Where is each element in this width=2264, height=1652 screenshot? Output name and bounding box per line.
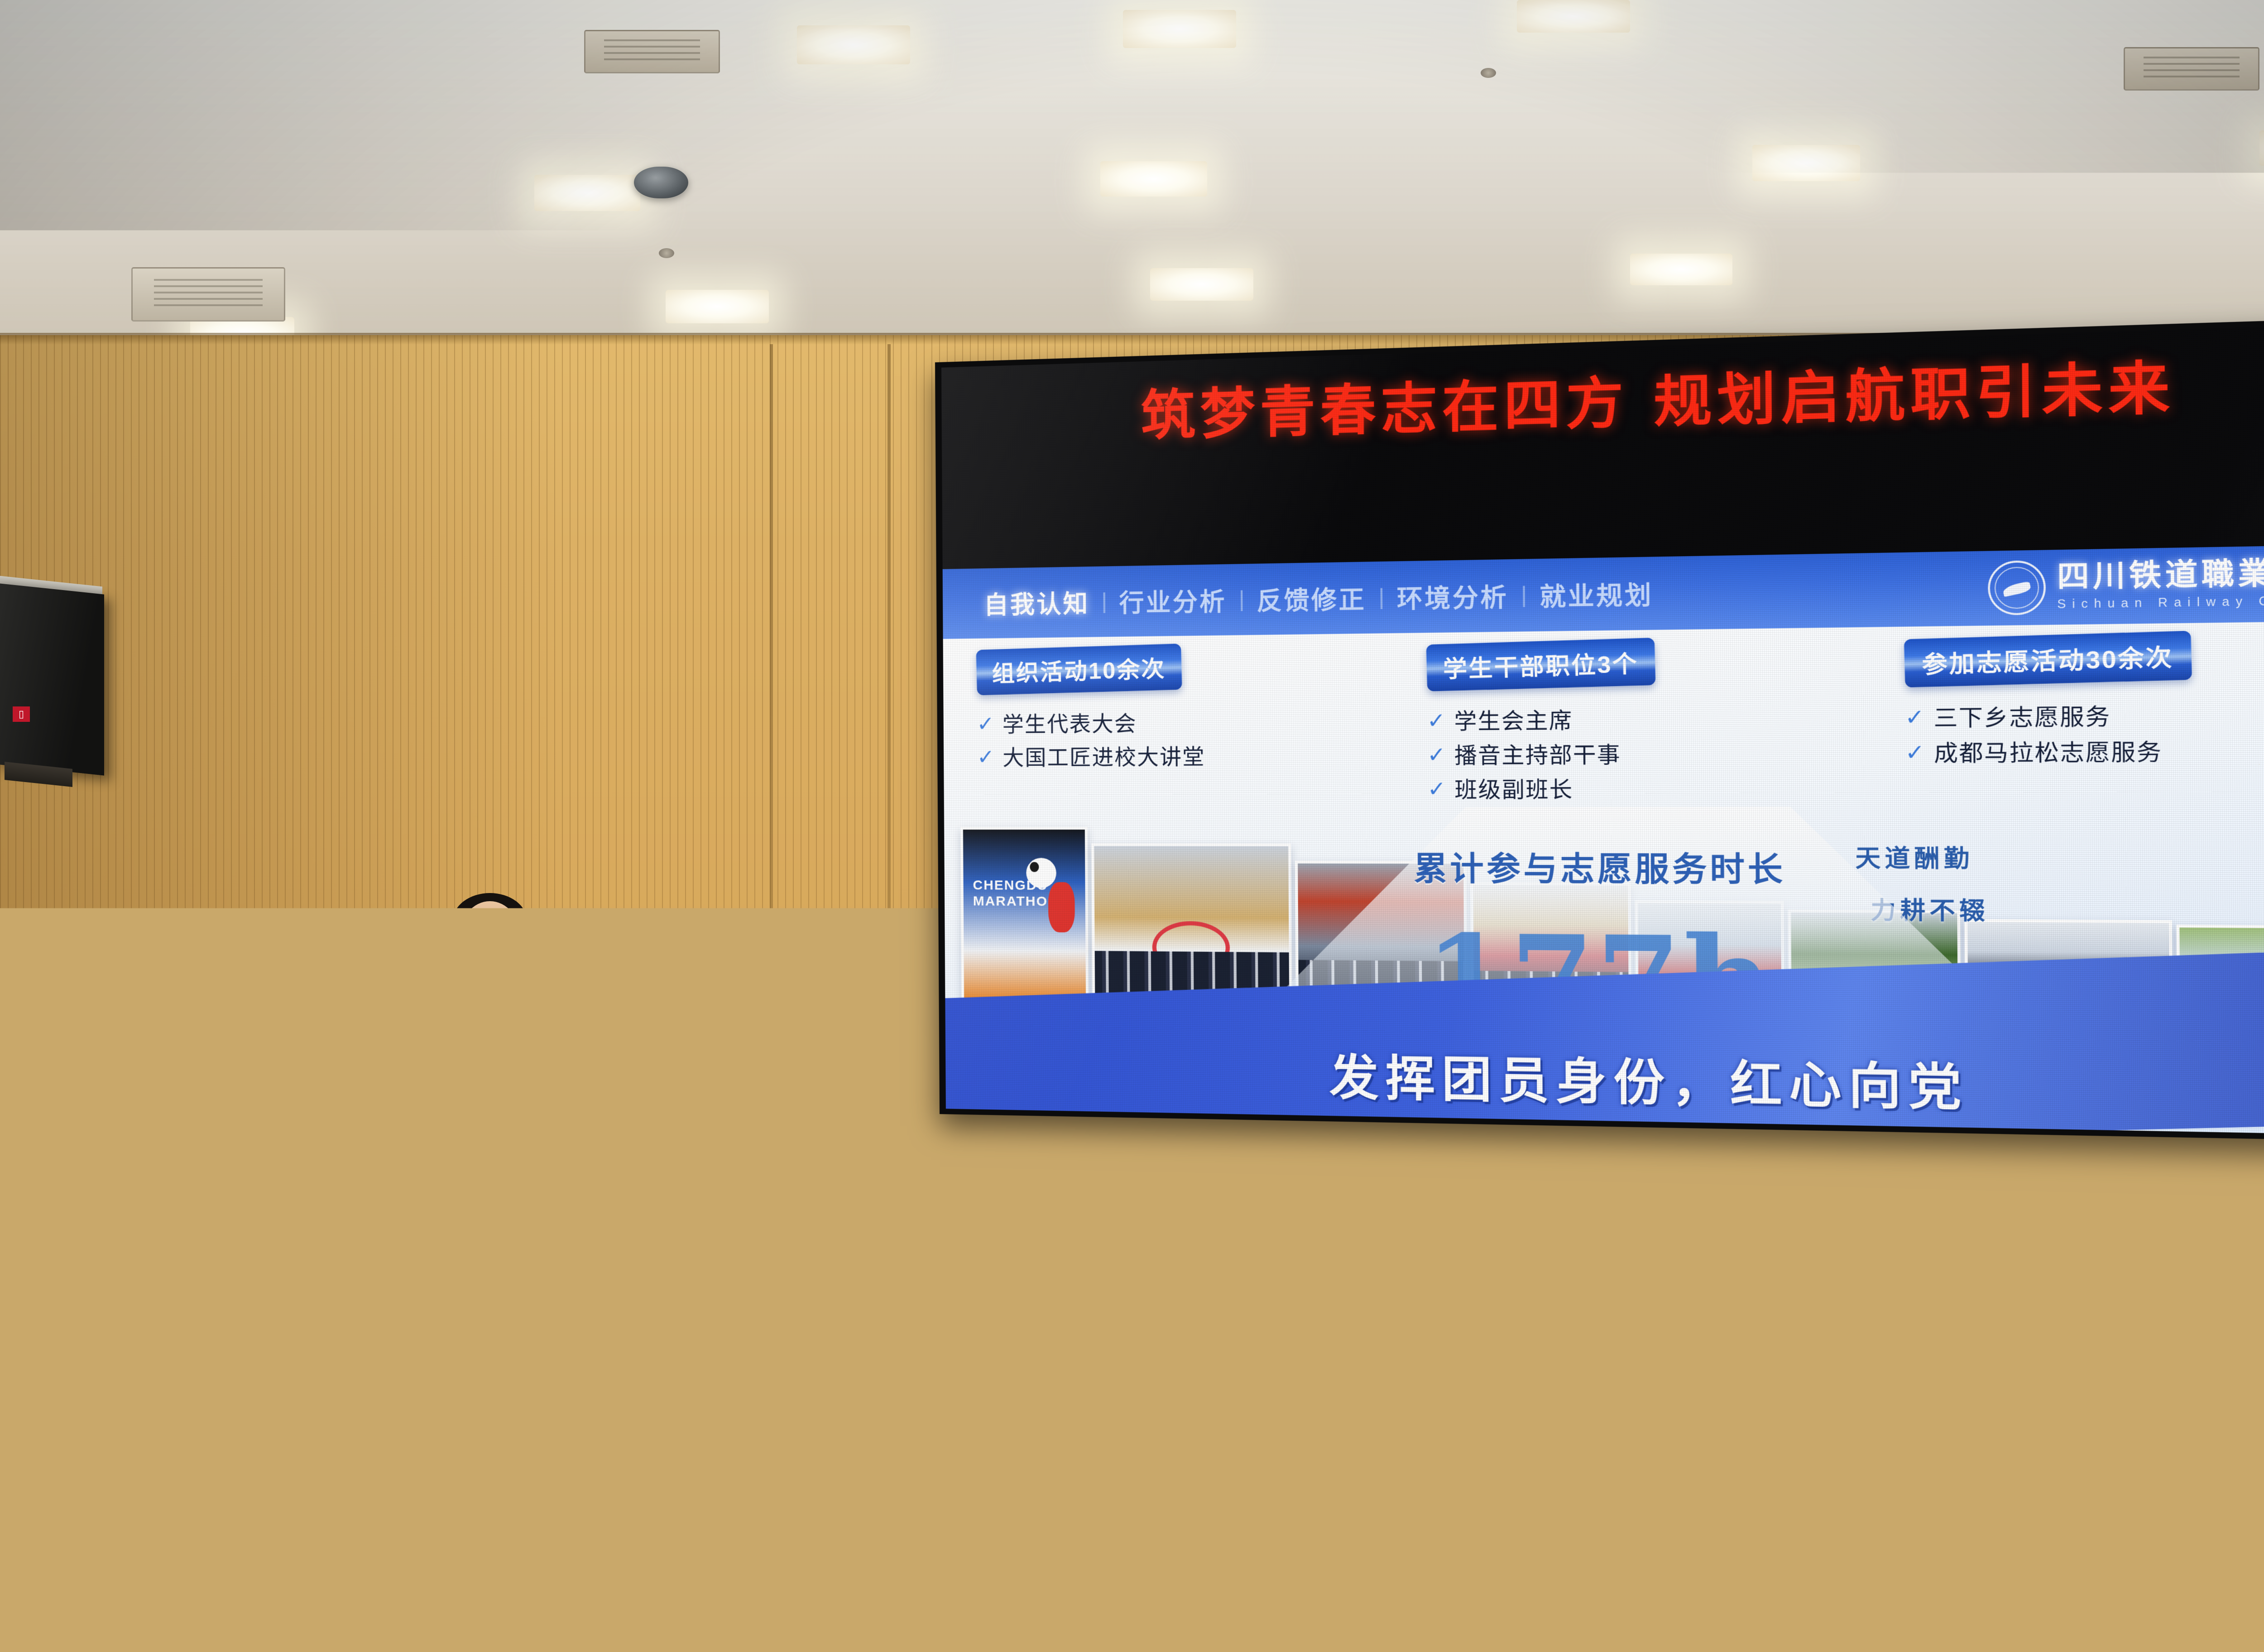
ac-vent [131, 267, 285, 322]
audience-head [860, 1331, 938, 1418]
ceiling-light-panel [2259, 130, 2264, 166]
sprinkler-head [659, 248, 674, 258]
ac-vent [2124, 47, 2259, 91]
check-icon: ✓ [1427, 744, 1446, 766]
audience-head [2092, 1331, 2172, 1420]
sprinkler-head [1481, 68, 1496, 78]
pill-positions: 学生干部职位3个 [1426, 638, 1656, 692]
bullet-list-positions: ✓ 学生会主席 ✓ 播音主持部干事 ✓ 班级副班长 [1427, 706, 1860, 802]
led-display-wall: 筑梦青春志在四方 规划启航职引未来 自我认知 | 行业分析 | 反馈修正 | 环… [935, 317, 2264, 1142]
wall-speaker [0, 583, 104, 775]
water-bottle [358, 1301, 373, 1345]
nav-separator: | [1101, 589, 1107, 614]
audience-head [1902, 1417, 1998, 1527]
judge-laptop [924, 1286, 1032, 1368]
check-icon: ✓ [1905, 741, 1925, 764]
list-item: ✓ 班级副班长 [1427, 777, 1860, 801]
audience-head [18, 1408, 109, 1513]
mascot-flag [1048, 882, 1075, 932]
list-item: ✓ 大国工匠进校大讲堂 [977, 744, 1385, 769]
check-icon: ✓ [1427, 778, 1446, 800]
speaker-brand-badge: ▯ [13, 706, 30, 722]
audience-head [1703, 1340, 1782, 1429]
audience-head [797, 1535, 914, 1652]
pill-activities: 组织活动10余次 [976, 644, 1182, 695]
ceiling-light-panel [1100, 161, 1207, 197]
list-item-label: 三下乡志愿服务 [1933, 704, 2111, 730]
audience-head [1186, 1327, 1263, 1413]
presenter-cuff-stripes-left [431, 1107, 467, 1136]
bullet-list-activities: ✓ 学生代表大会 ✓ 大国工匠进校大讲堂 [977, 710, 1384, 769]
list-item-label: 班级副班长 [1454, 778, 1573, 801]
slide-title-band: 筑梦青春志在四方 规划启航职引未来 [941, 322, 2264, 579]
panda-mascot-icon [1026, 858, 1056, 888]
nav-separator: | [1521, 582, 1527, 608]
pill-volunteering: 参加志愿活动30余次 [1904, 630, 2192, 687]
audience-head [480, 1413, 573, 1520]
audience-head [2137, 1426, 2234, 1537]
audience-head [1195, 1431, 1290, 1540]
list-item: ✓ 三下乡志愿服务 [1905, 702, 2264, 730]
panda-eye-icon [1030, 862, 1039, 872]
audience-chair [136, 1517, 299, 1652]
audience-chair [317, 1372, 453, 1460]
slide-title: 筑梦青春志在四方 规划启航职引未来 [1011, 336, 2264, 454]
nav-separator: | [1378, 585, 1384, 610]
college-seal-icon [1988, 560, 2046, 615]
nav-item-career-planning[interactable]: 就业规划 [1527, 574, 1666, 614]
ceiling-light-panel [666, 290, 769, 323]
achievement-column-activities: 组织活动10余次 ✓ 学生代表大会 ✓ 大国工匠进校大讲堂 [976, 643, 1384, 813]
audience-head [54, 1300, 127, 1381]
audience-head [1829, 1540, 1948, 1652]
tripod-head [578, 1223, 633, 1236]
uniform-button [479, 1103, 490, 1114]
audience-head [1426, 1422, 1521, 1531]
list-item: ✓ 学生会主席 [1427, 706, 1859, 733]
audience-head [1666, 1431, 1762, 1541]
nav-item-industry-analysis[interactable]: 行业分析 [1107, 581, 1239, 620]
check-icon: ✓ [977, 746, 995, 767]
college-name-cn: 四川铁道職業學院 [2057, 558, 2264, 593]
audience-head [1345, 1340, 1423, 1427]
audience-head [534, 1517, 650, 1652]
audience-head [2092, 1531, 2211, 1652]
check-icon: ✓ [977, 713, 994, 734]
check-icon: ✓ [1427, 710, 1445, 731]
ceiling-light-panel [1517, 0, 1630, 33]
water-bottle [1775, 1317, 1790, 1360]
nav-item-feedback-revision[interactable]: 反馈修正 [1244, 579, 1378, 618]
laptop-screen [924, 1286, 1032, 1359]
list-item: ✓ 学生代表大会 [977, 710, 1384, 735]
college-brand: 四川铁道職業學院 Sichuan Railway College [1988, 554, 2264, 615]
ceiling-light-panel [1123, 10, 1236, 48]
list-item-label: 学生会主席 [1454, 709, 1573, 733]
achievement-column-volunteering: 参加志愿活动30余次 ✓ 三下乡志愿服务 ✓ 成都马拉松志愿服务 [1904, 631, 2264, 812]
audience-head [245, 1417, 337, 1523]
wall-panel-seam [887, 344, 891, 1309]
audience-head [281, 1526, 396, 1652]
ceiling-light-panel [534, 175, 640, 211]
bullet-list-volunteering: ✓ 三下乡志愿服务 ✓ 成都马拉松志愿服务 [1905, 702, 2264, 765]
audience-head [1517, 1331, 1595, 1418]
audience-head [213, 1313, 287, 1397]
audience-area [0, 1282, 2264, 1652]
audience-head [1893, 1336, 1972, 1425]
ceiling-light-panel [1150, 268, 1253, 301]
check-icon: ✓ [1905, 706, 1925, 728]
achievement-columns: 组织活动10余次 ✓ 学生代表大会 ✓ 大国工匠进校大讲堂 [976, 631, 2264, 813]
video-camera [579, 1235, 609, 1259]
nav-separator: | [1239, 587, 1245, 612]
list-item: ✓ 成都马拉松志愿服务 [1905, 739, 2264, 765]
ac-vent [584, 30, 720, 73]
ceiling-light-panel [797, 25, 910, 64]
list-item-label: 成都马拉松志愿服务 [1934, 740, 2163, 765]
audience-chair [2210, 1359, 2264, 1447]
audience-head [1304, 1535, 1422, 1652]
presenter-hand-left [459, 963, 487, 998]
nav-item-environment-analysis[interactable]: 环境分析 [1384, 576, 1521, 615]
list-item-label: 大国工匠进校大讲堂 [1002, 745, 1205, 769]
uniform-button [479, 1073, 490, 1084]
tripod-head [1094, 1214, 1148, 1227]
ceiling-light-panel [1630, 254, 1732, 285]
audience-head [960, 1417, 1054, 1525]
nav-item-self-awareness[interactable]: 自我认知 [972, 583, 1102, 621]
college-name-en: Sichuan Railway College [2057, 593, 2264, 611]
audience-head [0, 1517, 95, 1652]
wall-panel-seam [770, 344, 773, 1309]
list-item-label: 播音主持部干事 [1454, 743, 1621, 767]
volunteer-hours-label: 累计参与志愿服务时长 [1188, 842, 2029, 892]
audience-head [435, 1309, 508, 1392]
auditorium-photo: ▯ 筑梦青春志在四方 规划启航职引未来 自我认知 | 行业分析 | 反馈修正 |… [0, 0, 2264, 1652]
uniform-button [505, 1102, 516, 1113]
ceiling-light-panel [1752, 145, 1860, 181]
uniform-button [505, 1072, 516, 1083]
list-item: ✓ 播音主持部干事 [1427, 741, 1860, 767]
audience-head [688, 1322, 765, 1408]
audience-head [1019, 1336, 1097, 1423]
presentation-slide: 筑梦青春志在四方 规划启航职引未来 自我认知 | 行业分析 | 反馈修正 | 环… [941, 322, 2264, 1135]
audience-head [734, 1426, 828, 1534]
slide-content-area: 组织活动10余次 ✓ 学生代表大会 ✓ 大国工匠进校大讲堂 [943, 620, 2264, 1135]
presenter-hand-right [528, 1129, 560, 1156]
video-camera [1094, 1226, 1124, 1250]
achievement-column-positions: 学生干部职位3个 ✓ 学生会主席 ✓ 播音主持部干事 ✓ [1426, 637, 1860, 812]
list-item-label: 学生代表大会 [1002, 712, 1137, 735]
ceiling-dome-camera [634, 167, 688, 198]
